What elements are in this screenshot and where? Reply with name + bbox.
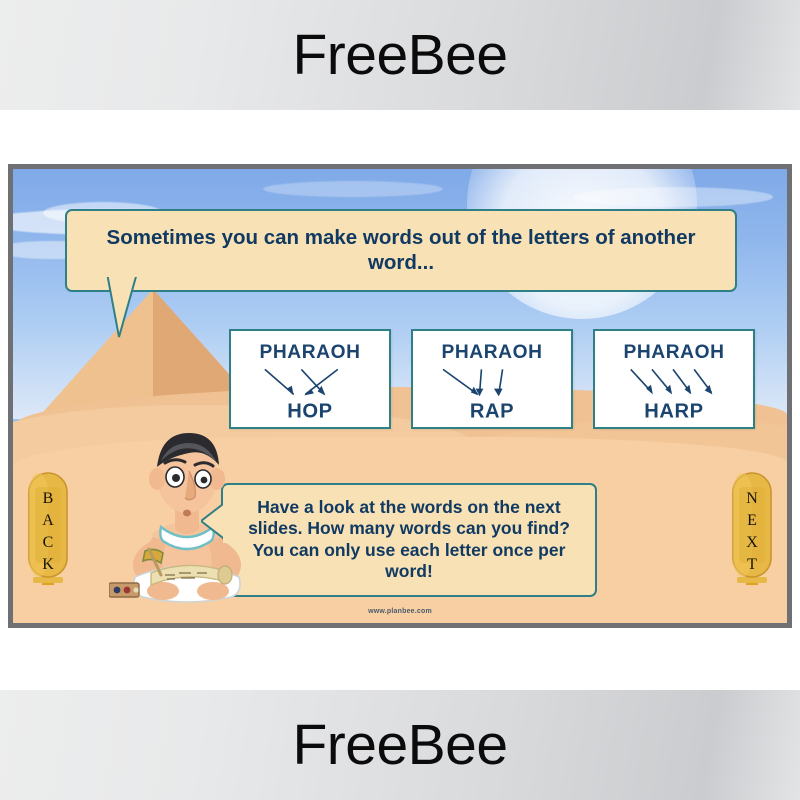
- site-url-watermark: www.planbee.com: [368, 608, 432, 615]
- brand-label-top: FreeBee: [292, 27, 507, 84]
- egyptian-scribe-figure: [109, 415, 269, 605]
- word-box-source-text: PHARAOH: [259, 342, 360, 363]
- svg-text:X: X: [746, 534, 758, 551]
- word-box-arrows: [631, 369, 713, 394]
- speech-bubble-top: Sometimes you can make words out of the …: [65, 209, 737, 292]
- word-box-source-text: PHARAOH: [623, 342, 724, 363]
- svg-text:A: A: [42, 512, 54, 529]
- word-box-harp: PHARAOH HARP: [593, 329, 755, 429]
- word-box-hop: PHARAOH HOP: [229, 329, 391, 429]
- slide-canvas: Sometimes you can make words out of the …: [13, 169, 787, 623]
- slide-frame: Sometimes you can make words out of the …: [8, 164, 792, 628]
- word-box-source-text: PHARAOH: [441, 342, 542, 363]
- speech-bubble-bottom: Have a look at the words on the next sli…: [221, 483, 597, 597]
- back-button[interactable]: B A C K: [25, 469, 71, 587]
- svg-text:T: T: [747, 556, 757, 573]
- cloud-shape: [573, 187, 773, 207]
- svg-text:C: C: [43, 534, 54, 551]
- speech-bubble-top-text: Sometimes you can make words out of the …: [107, 226, 696, 274]
- speech-bubble-bottom-tail: [201, 499, 227, 543]
- word-box-result-text: HOP: [287, 400, 332, 422]
- page-root: FreeBee: [0, 0, 800, 800]
- brand-label-bottom: FreeBee: [292, 717, 507, 774]
- svg-text:E: E: [747, 512, 757, 529]
- next-button[interactable]: N E X T: [729, 469, 775, 587]
- speech-bubble-bottom-text: Have a look at the words on the next sli…: [248, 497, 570, 581]
- brand-band-bottom: FreeBee: [0, 690, 800, 800]
- word-box-arrows: [443, 369, 503, 396]
- brand-band-top: FreeBee: [0, 0, 800, 110]
- svg-text:B: B: [43, 490, 54, 507]
- word-box-result-text: HARP: [644, 400, 703, 422]
- word-box-result-text: RAP: [470, 400, 514, 422]
- svg-text:N: N: [746, 490, 758, 507]
- cloud-shape: [263, 181, 443, 197]
- speech-bubble-top-tail: [105, 273, 139, 339]
- word-box-rap: PHARAOH RAP: [411, 329, 573, 429]
- svg-text:K: K: [42, 556, 54, 573]
- word-box-arrows: [265, 369, 338, 395]
